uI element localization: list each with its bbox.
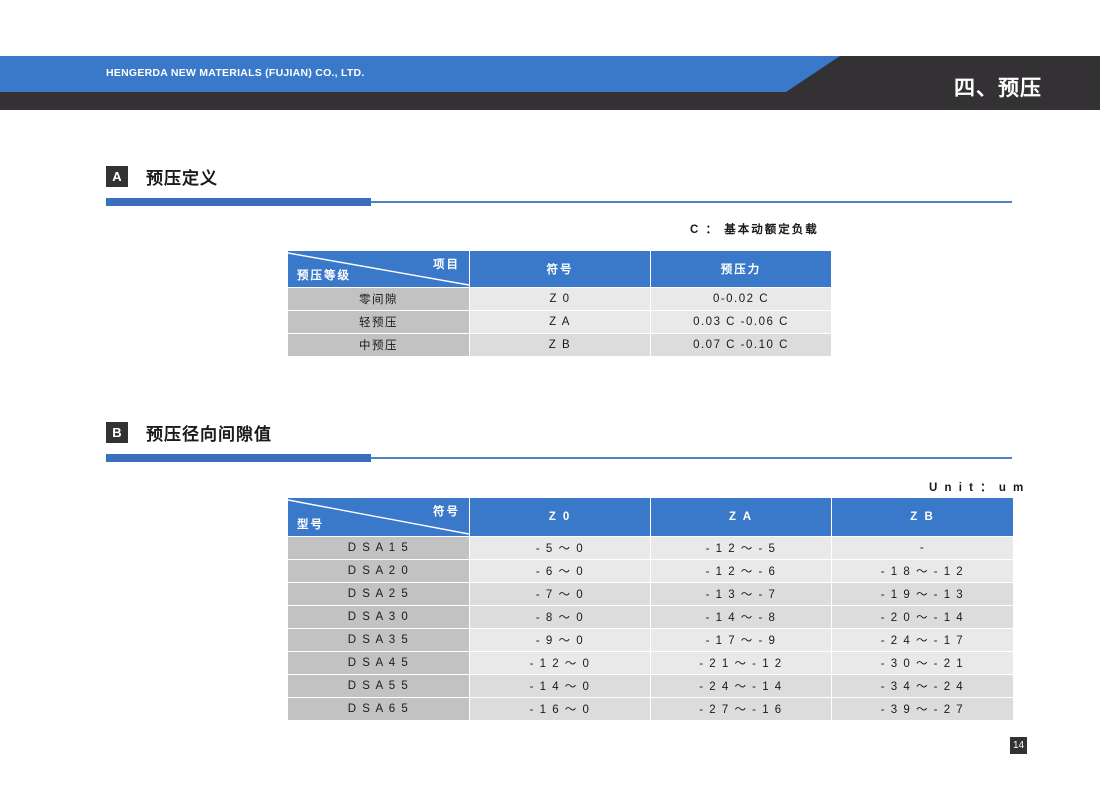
table-b-row0-label: D S A 1 5 xyxy=(288,537,469,559)
table-a-row1-label: 轻预压 xyxy=(288,311,469,333)
table-b-row1-za: - 1 2 ～ - 6 xyxy=(651,560,831,582)
table-b-row2-label: D S A 2 5 xyxy=(288,583,469,605)
preload-radial-clearance-table: 符号 型号 Z 0 Z A Z B D S A 1 5 - 5 ～ 0 - 1 … xyxy=(287,497,1014,721)
table-a-note: C ： 基本动额定负载 xyxy=(690,221,819,237)
table-b-row6-zb: - 3 4 ～ - 2 4 xyxy=(832,675,1013,697)
table-b-row5-label: D S A 4 5 xyxy=(288,652,469,674)
section-b: B 预压径向间隙值 xyxy=(106,419,1012,462)
table-b-row6-label: D S A 5 5 xyxy=(288,675,469,697)
table-row: 轻预压 Z A 0.03 C -0.06 C xyxy=(288,311,831,333)
table-b-row0-zb: - xyxy=(832,537,1013,559)
table-a-row0-force: 0-0.02 C xyxy=(651,288,831,310)
table-b-row4-label: D S A 3 5 xyxy=(288,629,469,651)
table-b-row4-za: - 1 7 ～ - 9 xyxy=(651,629,831,651)
table-row: D S A 2 5 - 7 ～ 0 - 1 3 ～ - 7 - 1 9 ～ - … xyxy=(288,583,1013,605)
section-a-title: 预压定义 xyxy=(146,164,218,189)
table-b-col-z0: Z 0 xyxy=(470,498,650,536)
section-b-badge: B xyxy=(106,422,128,443)
table-b-row3-label: D S A 3 0 xyxy=(288,606,469,628)
table-b-header-row: 符号 型号 Z 0 Z A Z B xyxy=(288,498,1013,536)
table-a-row1-force: 0.03 C -0.06 C xyxy=(651,311,831,333)
table-b-row2-z0: - 7 ～ 0 xyxy=(470,583,650,605)
table-b-corner-cell: 符号 型号 xyxy=(288,498,469,536)
table-a-row2-symbol: Z B xyxy=(470,334,650,356)
table-a-row0-label: 零间隙 xyxy=(288,288,469,310)
section-b-title: 预压径向间隙值 xyxy=(146,420,272,445)
table-b-col-za: Z A xyxy=(651,498,831,536)
table-a-header-row: 项目 预压等级 符号 预压力 xyxy=(288,251,831,287)
section-a-badge: A xyxy=(106,166,128,187)
table-b-row3-z0: - 8 ～ 0 xyxy=(470,606,650,628)
section-b-heading: B 预压径向间隙值 xyxy=(106,419,1012,445)
table-row: D S A 3 5 - 9 ～ 0 - 1 7 ～ - 9 - 2 4 ～ - … xyxy=(288,629,1013,651)
table-b-row7-za: - 2 7 ～ - 1 6 xyxy=(651,698,831,720)
table-b-row5-z0: - 1 2 ～ 0 xyxy=(470,652,650,674)
table-row: 零间隙 Z 0 0-0.02 C xyxy=(288,288,831,310)
table-row: D S A 3 0 - 8 ～ 0 - 1 4 ～ - 8 - 2 0 ～ - … xyxy=(288,606,1013,628)
table-b-row6-z0: - 1 4 ～ 0 xyxy=(470,675,650,697)
table-a-col-force: 预压力 xyxy=(651,251,831,287)
table-b-corner-bottom-left: 型号 xyxy=(297,516,324,532)
table-b-row4-z0: - 9 ～ 0 xyxy=(470,629,650,651)
table-b-row5-zb: - 3 0 ～ - 2 1 xyxy=(832,652,1013,674)
table-b-row1-z0: - 6 ～ 0 xyxy=(470,560,650,582)
table-b-row2-zb: - 1 9 ～ - 1 3 xyxy=(832,583,1013,605)
section-b-rule xyxy=(106,454,1012,462)
table-row: D S A 6 5 - 1 6 ～ 0 - 2 7 ～ - 1 6 - 3 9 … xyxy=(288,698,1013,720)
section-a: A 预压定义 xyxy=(106,163,1012,206)
table-a-row2-force: 0.07 C -0.10 C xyxy=(651,334,831,356)
section-a-heading: A 预压定义 xyxy=(106,163,1012,189)
table-a-row0-symbol: Z 0 xyxy=(470,288,650,310)
table-b-row2-za: - 1 3 ～ - 7 xyxy=(651,583,831,605)
table-b-row7-label: D S A 6 5 xyxy=(288,698,469,720)
table-b-corner-top-right: 符号 xyxy=(433,503,460,519)
page-header: HENGERDA NEW MATERIALS (FUJIAN) CO., LTD… xyxy=(0,56,1100,110)
table-a-corner-top-right: 项目 xyxy=(433,256,460,272)
table-b-row5-za: - 2 1 ～ - 1 2 xyxy=(651,652,831,674)
preload-definition-table: 项目 预压等级 符号 预压力 零间隙 Z 0 0-0.02 C 轻预压 Z A … xyxy=(287,250,832,357)
table-b-row7-z0: - 1 6 ～ 0 xyxy=(470,698,650,720)
company-name: HENGERDA NEW MATERIALS (FUJIAN) CO., LTD… xyxy=(106,67,365,79)
page-number-badge: 14 xyxy=(1010,737,1027,754)
table-a-row1-symbol: Z A xyxy=(470,311,650,333)
table-b-row1-zb: - 1 8 ～ - 1 2 xyxy=(832,560,1013,582)
table-b-row1-label: D S A 2 0 xyxy=(288,560,469,582)
table-a-col-symbol: 符号 xyxy=(470,251,650,287)
table-row: D S A 2 0 - 6 ～ 0 - 1 2 ～ - 6 - 1 8 ～ - … xyxy=(288,560,1013,582)
table-b-row0-z0: - 5 ～ 0 xyxy=(470,537,650,559)
table-b-unit-note: U n i t ： u m xyxy=(929,479,1025,495)
table-b-row3-zb: - 2 0 ～ - 1 4 xyxy=(832,606,1013,628)
table-row: 中预压 Z B 0.07 C -0.10 C xyxy=(288,334,831,356)
table-row: D S A 1 5 - 5 ～ 0 - 1 2 ～ - 5 - xyxy=(288,537,1013,559)
table-b-row7-zb: - 3 9 ～ - 2 7 xyxy=(832,698,1013,720)
table-a-corner-cell: 项目 预压等级 xyxy=(288,251,469,287)
table-a-row2-label: 中预压 xyxy=(288,334,469,356)
section-a-rule xyxy=(106,198,1012,206)
table-b-col-zb: Z B xyxy=(832,498,1013,536)
table-row: D S A 5 5 - 1 4 ～ 0 - 2 4 ～ - 1 4 - 3 4 … xyxy=(288,675,1013,697)
table-b-row3-za: - 1 4 ～ - 8 xyxy=(651,606,831,628)
section-a-rule-thick xyxy=(106,198,371,206)
table-b-row6-za: - 2 4 ～ - 1 4 xyxy=(651,675,831,697)
table-b-row4-zb: - 2 4 ～ - 1 7 xyxy=(832,629,1013,651)
table-a-corner-bottom-left: 预压等级 xyxy=(297,267,351,283)
section-b-rule-thick xyxy=(106,454,371,462)
table-b-row0-za: - 1 2 ～ - 5 xyxy=(651,537,831,559)
chapter-title: 四、预压 xyxy=(954,72,1042,102)
table-row: D S A 4 5 - 1 2 ～ 0 - 2 1 ～ - 1 2 - 3 0 … xyxy=(288,652,1013,674)
